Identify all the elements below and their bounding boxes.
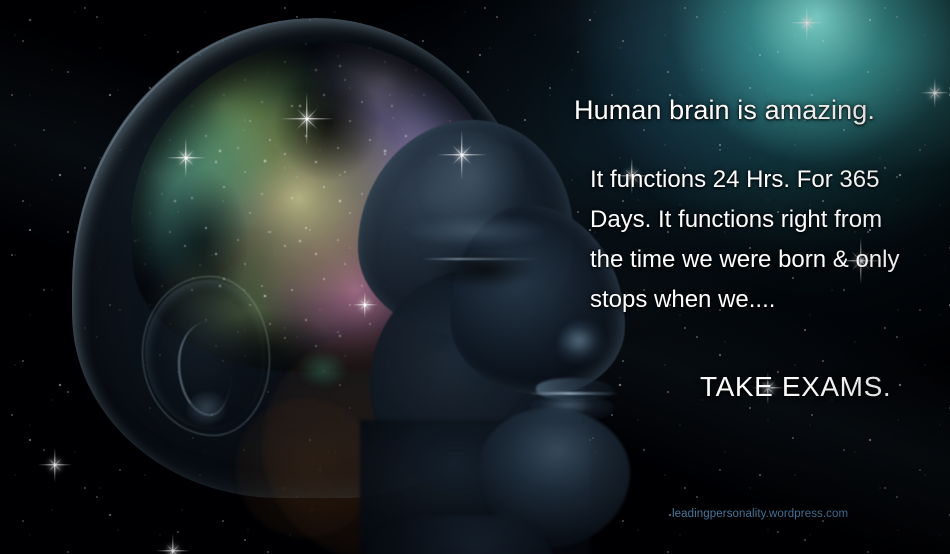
quote-text-block: Human brain is amazing. It functions 24 … (566, 96, 936, 320)
body-text: It functions 24 Hrs. For 365 Days. It fu… (590, 160, 920, 320)
watermark-url: leadingpersonality.wordpress.com (672, 508, 848, 520)
punchline-text: TAKE EXAMS. (700, 372, 891, 403)
nose-tip-highlight (558, 320, 616, 372)
lip-line (528, 392, 620, 395)
poster-image: Human brain is amazing. It functions 24 … (0, 0, 950, 554)
headline: Human brain is amazing. (574, 96, 936, 126)
